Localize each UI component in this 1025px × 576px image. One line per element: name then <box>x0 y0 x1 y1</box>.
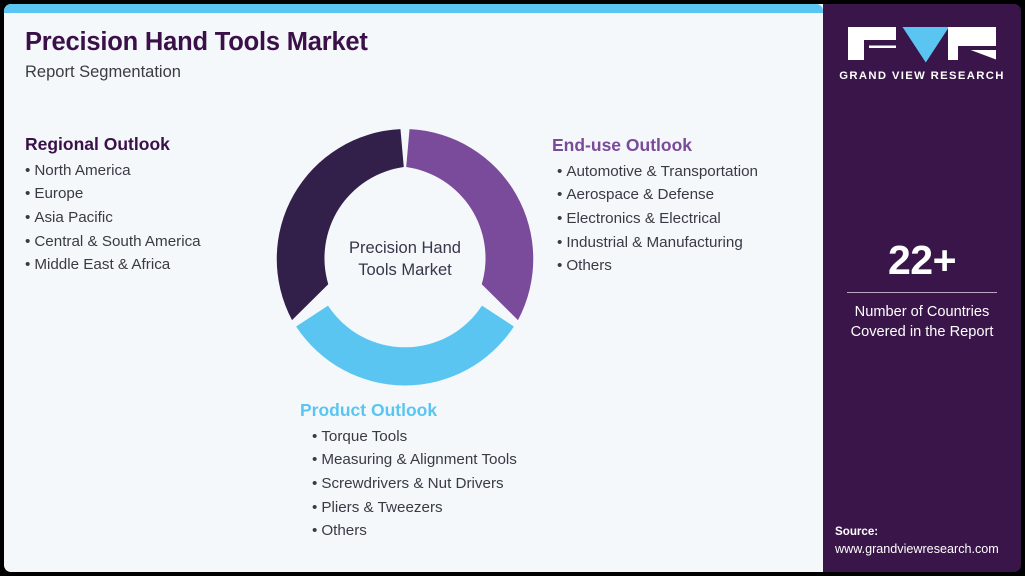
list-item-label: Screwdrivers & Nut Drivers <box>321 475 503 492</box>
list-item-label: Electronics & Electrical <box>566 210 720 227</box>
donut-segment-regional <box>277 129 404 320</box>
regional-outlook-block: Regional Outlook •North America •Europe … <box>25 134 201 277</box>
bullet-icon: • <box>557 183 562 207</box>
list-item: •Europe <box>25 182 201 206</box>
source-label: Source: <box>835 524 1020 540</box>
source-url[interactable]: www.grandviewresearch.com <box>835 540 1020 558</box>
sidebar: GRAND VIEW RESEARCH 22+ Number of Countr… <box>823 4 1021 572</box>
donut-segment-enduse <box>406 129 533 320</box>
bullet-icon: • <box>312 448 317 472</box>
list-item-label: Middle East & Africa <box>34 256 170 273</box>
list-item: •Automotive & Transportation <box>557 160 758 184</box>
brand-logo: GRAND VIEW RESEARCH <box>823 26 1021 82</box>
bullet-icon: • <box>25 230 30 254</box>
bullet-icon: • <box>312 496 317 520</box>
list-item: •Others <box>557 254 758 278</box>
bullet-icon: • <box>312 425 317 449</box>
list-item: •North America <box>25 159 201 183</box>
bullet-icon: • <box>25 206 30 230</box>
stat-caption: Number of Countries Covered in the Repor… <box>823 302 1021 342</box>
bullet-icon: • <box>25 159 30 183</box>
list-item-label: Automotive & Transportation <box>566 163 758 180</box>
bullet-icon: • <box>557 160 562 184</box>
list-item: •Aerospace & Defense <box>557 183 758 207</box>
content-panel: Precision Hand Tools Market Report Segme… <box>4 4 823 572</box>
product-outlook-list: •Torque Tools •Measuring & Alignment Too… <box>300 425 517 543</box>
header: Precision Hand Tools Market Report Segme… <box>25 28 725 83</box>
source-block: Source: www.grandviewresearch.com <box>835 524 1020 558</box>
bullet-icon: • <box>312 472 317 496</box>
list-item: •Torque Tools <box>312 425 517 449</box>
brand-wordmark: GRAND VIEW RESEARCH <box>823 70 1021 82</box>
list-item: •Pliers & Tweezers <box>312 496 517 520</box>
list-item: •Electronics & Electrical <box>557 207 758 231</box>
list-item-label: Europe <box>34 185 83 202</box>
list-item: •Asia Pacific <box>25 206 201 230</box>
list-item-label: North America <box>34 162 130 179</box>
gvr-logo-icon <box>848 26 996 63</box>
stat-caption-line-2: Covered in the Report <box>823 322 1021 342</box>
enduse-outlook-heading: End-use Outlook <box>552 135 758 157</box>
list-item: •Middle East & Africa <box>25 253 201 277</box>
list-item-label: Aerospace & Defense <box>566 186 714 203</box>
stat-divider <box>847 292 997 293</box>
stat-caption-line-1: Number of Countries <box>823 302 1021 322</box>
list-item-label: Pliers & Tweezers <box>321 499 442 516</box>
donut-chart-svg <box>275 129 535 389</box>
list-item-label: Torque Tools <box>321 428 407 445</box>
bullet-icon: • <box>557 231 562 255</box>
donut-segments <box>277 129 534 385</box>
list-item-label: Measuring & Alignment Tools <box>321 451 517 468</box>
page-title: Precision Hand Tools Market <box>25 28 725 57</box>
list-item: •Others <box>312 519 517 543</box>
list-item-label: Industrial & Manufacturing <box>566 234 742 251</box>
donut-segment-product <box>296 306 514 386</box>
list-item: •Central & South America <box>25 230 201 254</box>
product-outlook-heading: Product Outlook <box>300 400 517 422</box>
bullet-icon: • <box>25 182 30 206</box>
enduse-outlook-block: End-use Outlook •Automotive & Transporta… <box>552 135 758 278</box>
stat-value: 22+ <box>823 240 1021 281</box>
enduse-outlook-list: •Automotive & Transportation •Aerospace … <box>552 160 758 278</box>
bullet-icon: • <box>25 253 30 277</box>
donut-chart: Precision Hand Tools Market <box>275 129 535 389</box>
regional-outlook-heading: Regional Outlook <box>25 134 201 156</box>
bullet-icon: • <box>557 254 562 278</box>
top-accent-bar <box>4 4 823 13</box>
page-subtitle: Report Segmentation <box>25 63 725 83</box>
list-item-label: Central & South America <box>34 233 200 250</box>
list-item: •Industrial & Manufacturing <box>557 231 758 255</box>
regional-outlook-list: •North America •Europe •Asia Pacific •Ce… <box>25 159 201 277</box>
bullet-icon: • <box>557 207 562 231</box>
list-item-label: Others <box>321 522 367 539</box>
list-item-label: Asia Pacific <box>34 209 113 226</box>
list-item: •Measuring & Alignment Tools <box>312 448 517 472</box>
list-item: •Screwdrivers & Nut Drivers <box>312 472 517 496</box>
infographic-root: Precision Hand Tools Market Report Segme… <box>0 0 1025 576</box>
bullet-icon: • <box>312 519 317 543</box>
stat-block: 22+ Number of Countries Covered in the R… <box>823 240 1021 342</box>
list-item-label: Others <box>566 257 612 274</box>
product-outlook-block: Product Outlook •Torque Tools •Measuring… <box>300 400 517 543</box>
